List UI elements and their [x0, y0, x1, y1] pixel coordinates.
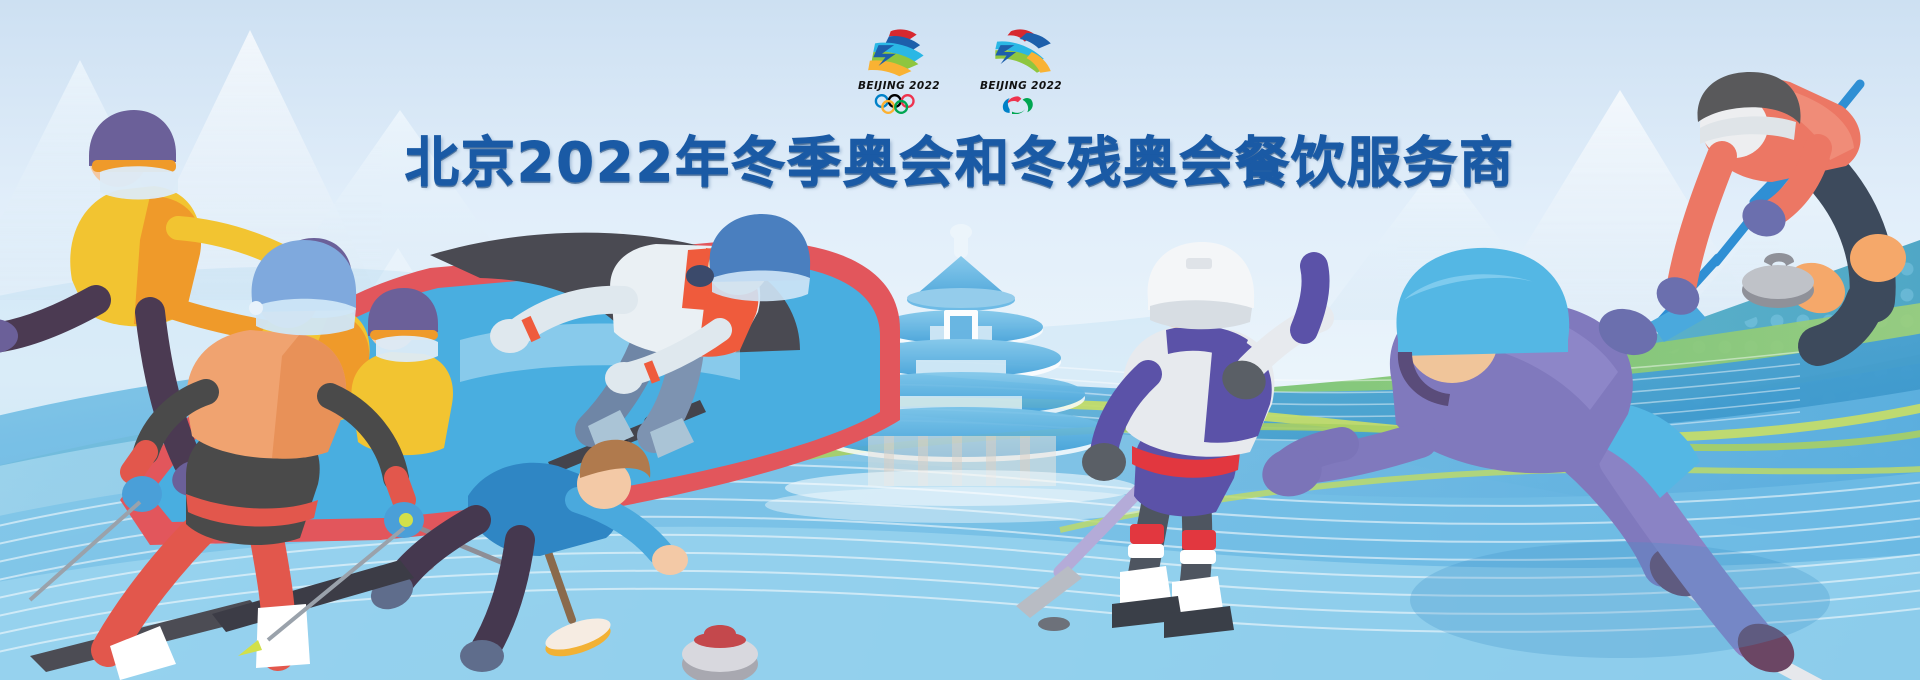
olympic-emblem: BEIJING 2022 [851, 26, 947, 114]
page-title: 北京2022年冬季奥会和冬残奥会餐饮服务商 [0, 118, 1920, 197]
olympic-banner: BEIJING 2022 BEIJING 2022 [0, 0, 1920, 680]
paralympic-emblem-mark [978, 26, 1065, 78]
olympic-emblem-mark [856, 26, 943, 78]
emblem-group: BEIJING 2022 BEIJING 2022 [0, 26, 1920, 122]
paralympic-emblem: BEIJING 2022 [973, 26, 1069, 114]
olympic-rings-icon [870, 94, 929, 114]
agitos-icon [992, 94, 1051, 114]
paralympic-wordmark: BEIJING 2022 [980, 80, 1062, 92]
olympic-wordmark: BEIJING 2022 [858, 80, 940, 92]
